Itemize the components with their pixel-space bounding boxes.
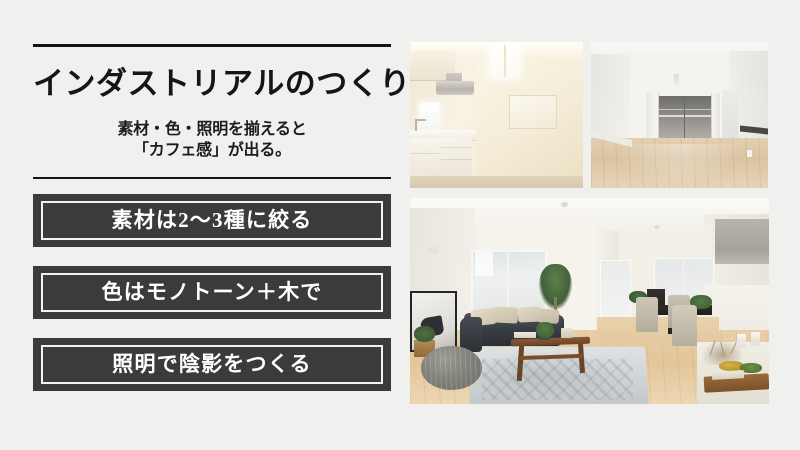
- sofa-cushion-2: [492, 307, 518, 325]
- dining-chair-1: [636, 297, 658, 332]
- subtitle-line-1: 素材・色・照明を揃えると: [33, 119, 391, 140]
- kitchen-drawer-line-2: [441, 159, 472, 160]
- kitchen-side-window: [420, 103, 439, 128]
- hallway-floor: [597, 317, 719, 342]
- doorway-glass-panel: [724, 95, 733, 136]
- board-dish: [711, 370, 744, 380]
- wine-glass-2: [751, 332, 760, 346]
- bullet-bar-1: 素材は2〜3種に絞る: [33, 194, 391, 247]
- table-books: [514, 332, 536, 338]
- bullet-label-2: 色はモノトーン＋木で: [102, 282, 323, 303]
- side-table-plant: [414, 326, 436, 342]
- wall-vent: [428, 247, 439, 253]
- closet-divider: [684, 96, 686, 141]
- kitchen-faucet-arm: [415, 119, 425, 121]
- kitchen-skylight-mullion: [504, 45, 506, 77]
- dining-chair-3: [672, 305, 697, 346]
- living-glass-door: [600, 260, 631, 320]
- closet-door-left: [646, 93, 659, 144]
- table-plant: [536, 322, 554, 338]
- bullet-inner-frame-2: 色はモノトーン＋木で: [41, 273, 383, 312]
- bullet-label-1: 素材は2〜3種に絞る: [112, 210, 313, 231]
- window-glare: [475, 252, 493, 277]
- bullet-list: 素材は2〜3種に絞る 色はモノトーン＋木で 照明で陰影をつくる: [33, 194, 391, 391]
- ottoman-texture: [421, 346, 482, 389]
- subtitle-line-2: 「カフェ感」が出る。: [33, 140, 391, 161]
- subtitle: 素材・色・照明を揃えると 「カフェ感」が出る。: [33, 119, 391, 161]
- kitchen-drawer-line-3: [410, 153, 439, 154]
- bullet-bar-2: 色はモノトーン＋木で: [33, 266, 391, 319]
- window-mullion: [507, 250, 509, 314]
- kitchen-floor: [410, 176, 583, 188]
- kitchen-range-hood: [436, 81, 474, 94]
- area-rug-pattern: [482, 359, 633, 400]
- bullet-label-3: 照明で陰影をつくる: [112, 354, 311, 375]
- slide-canvas: インダストリアルのつくり方 素材・色・照明を揃えると 「カフェ感」が出る。 素材…: [0, 0, 800, 450]
- ceiling-light-fixture: [674, 74, 679, 86]
- wine-glass-1: [737, 334, 746, 348]
- ceiling-downlight-2: [654, 225, 660, 229]
- kitchen-wall-panel: [509, 95, 558, 129]
- living-room-photo: [410, 198, 769, 404]
- left-content-column: インダストリアルのつくり方 素材・色・照明を揃えると 「カフェ感」が出る。 素材…: [33, 44, 391, 400]
- bullet-inner-frame-1: 素材は2〜3種に絞る: [41, 201, 383, 240]
- top-divider-rule: [33, 44, 391, 47]
- bottom-divider-wrapper: [33, 177, 391, 179]
- floor-light-reflection: [616, 144, 743, 188]
- bullet-inner-frame-3: 照明で陰影をつくる: [41, 345, 383, 384]
- kitchen-faucet: [415, 119, 417, 131]
- page-title: インダストリアルのつくり方: [33, 68, 391, 99]
- wall-outlet: [747, 150, 752, 157]
- kitchen-interior-photo: [410, 42, 583, 188]
- title-block: インダストリアルのつくり方 素材・色・照明を揃えると 「カフェ感」が出る。: [33, 68, 391, 161]
- empty-room-photo: [591, 42, 768, 188]
- kitchen-drawer-line-1: [441, 147, 472, 148]
- kitchen-range-hood-unit: [715, 219, 769, 264]
- table-vase: [561, 328, 572, 338]
- bottom-divider-rule: [33, 177, 391, 179]
- bullet-bar-3: 照明で陰影をつくる: [33, 338, 391, 391]
